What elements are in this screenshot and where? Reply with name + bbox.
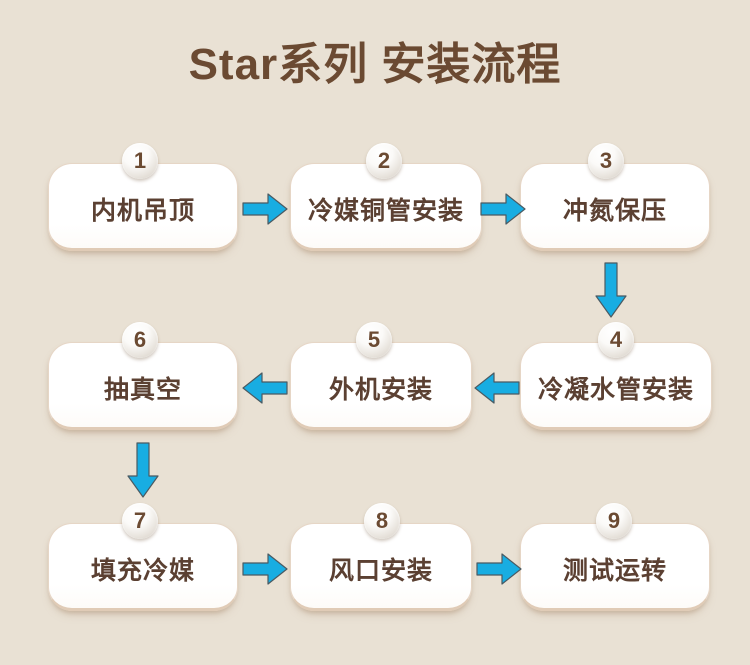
step-badge-9: 9 xyxy=(596,503,632,539)
step-badge-5: 5 xyxy=(356,322,392,358)
step-label-1: 内机吊顶 xyxy=(91,191,195,227)
arrow-left-4-to-5 xyxy=(472,371,520,405)
arrow-left-5-to-6 xyxy=(240,371,288,405)
arrow-right-1-to-2 xyxy=(242,192,288,226)
arrow-right-7-to-8 xyxy=(242,552,288,586)
arrow-down-6-to-7 xyxy=(126,442,160,498)
step-label-8: 风口安装 xyxy=(329,551,433,587)
step-badge-6: 6 xyxy=(122,322,158,358)
step-label-7: 填充冷媒 xyxy=(91,551,195,587)
step-badge-3: 3 xyxy=(588,143,624,179)
arrow-right-2-to-3 xyxy=(480,192,526,226)
flowchart-canvas: Star系列 安装流程 内机吊顶 1 冷媒铜管安装 2 冲氮保压 3 抽真空 6 xyxy=(0,0,750,665)
step-label-2: 冷媒铜管安装 xyxy=(308,191,464,227)
step-label-4: 冷凝水管安装 xyxy=(538,370,694,406)
step-label-6: 抽真空 xyxy=(104,370,182,406)
arrow-down-3-to-4 xyxy=(594,262,628,318)
step-badge-8: 8 xyxy=(364,503,400,539)
step-label-9: 测试运转 xyxy=(563,551,667,587)
step-label-3: 冲氮保压 xyxy=(563,191,667,227)
step-badge-1: 1 xyxy=(122,143,158,179)
step-badge-4: 4 xyxy=(598,322,634,358)
step-badge-7: 7 xyxy=(122,503,158,539)
page-title: Star系列 安装流程 xyxy=(0,28,750,92)
step-badge-2: 2 xyxy=(366,143,402,179)
arrow-right-8-to-9 xyxy=(476,552,522,586)
step-label-5: 外机安装 xyxy=(329,370,433,406)
